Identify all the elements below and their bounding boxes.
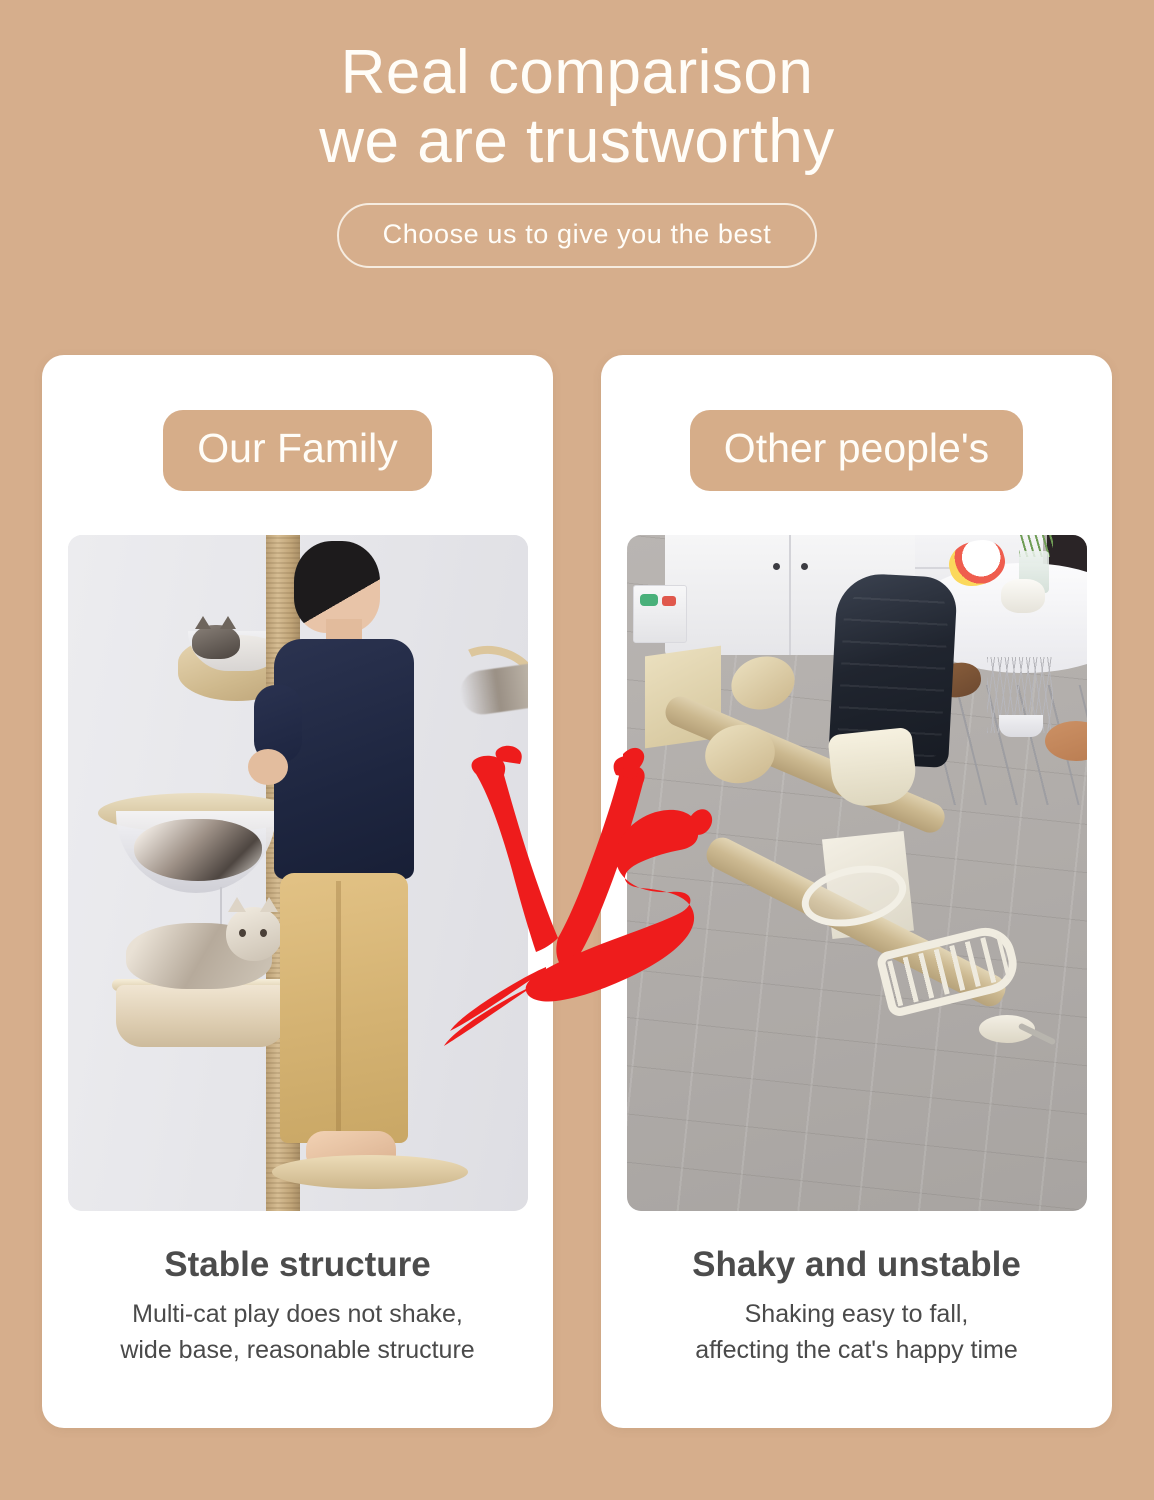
cat-top <box>192 625 240 659</box>
card-other-peoples: Other people's <box>601 355 1112 1428</box>
card-our-family: Our Family <box>42 355 553 1428</box>
caption-left-line-1: Multi-cat play does not shake, <box>120 1296 474 1332</box>
person-navy-shirt <box>274 639 414 879</box>
caption-body-left: Multi-cat play does not shake, wide base… <box>120 1296 474 1369</box>
person <box>264 535 454 1211</box>
caption-title-right: Shaky and unstable <box>692 1247 1021 1282</box>
person-khaki-pants <box>280 873 408 1143</box>
page-title: Real comparison we are trustworthy <box>0 0 1154 177</box>
ceramic-decor <box>1001 579 1045 613</box>
cat-tree-base-board <box>272 1155 468 1189</box>
badge-our-family: Our Family <box>163 410 431 491</box>
header: Real comparison we are trustworthy Choos… <box>0 0 1154 268</box>
cabinet-knob-right <box>801 563 808 570</box>
storage-item-green <box>640 594 658 606</box>
cabinet-knob-left <box>773 563 780 570</box>
caption-title-left: Stable structure <box>164 1247 430 1282</box>
photo-our-family <box>68 535 528 1211</box>
caption-right-line-2: affecting the cat's happy time <box>695 1332 1018 1368</box>
person-hand <box>248 749 288 785</box>
photo-other-peoples <box>627 535 1087 1211</box>
cat-eye-left <box>239 929 246 937</box>
storage-box <box>633 585 687 643</box>
badge-other-peoples: Other people's <box>690 410 1023 491</box>
storage-item-red <box>662 596 676 606</box>
caption-left-line-2: wide base, reasonable structure <box>120 1332 474 1368</box>
title-line-2: we are trustworthy <box>0 107 1154 176</box>
title-line-1: Real comparison <box>341 38 814 107</box>
table-foot <box>999 715 1043 737</box>
comparison-cards: Our Family <box>42 355 1112 1428</box>
infographic-page: Real comparison we are trustworthy Choos… <box>0 0 1154 1500</box>
caption-body-right: Shaking easy to fall, affecting the cat'… <box>695 1296 1018 1369</box>
cat-middle <box>134 819 262 881</box>
cat-hammock <box>116 985 286 1047</box>
subtitle-pill: Choose us to give you the best <box>337 203 818 268</box>
caption-right-line-1: Shaking easy to fall, <box>695 1296 1018 1332</box>
